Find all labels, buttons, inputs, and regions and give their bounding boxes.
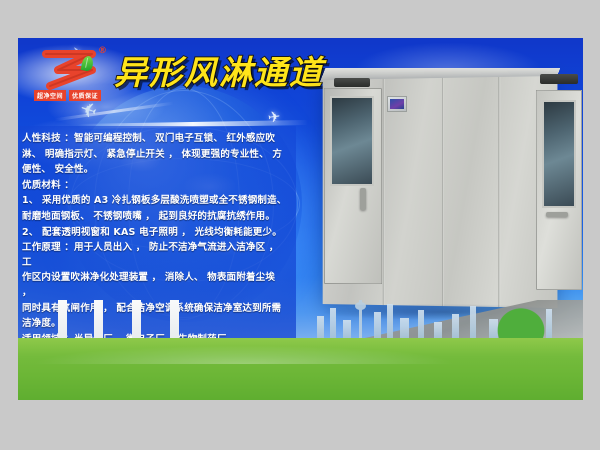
product-banner: ✈ ✈ ✈ ® 超净空间 优质保证 异形风淋通道 人性科技 ：智能可编程控制、 … xyxy=(18,38,583,400)
description-line: 1、 采用优质的 A3 冷扎钢板多层酸洗喷塑或全不锈钢制造、 xyxy=(22,194,288,209)
grass-field xyxy=(18,338,583,400)
door-handle-left xyxy=(360,188,366,210)
description-line: 工作原理 ：用于人员出入 ， 防止不洁净气流进入洁净区 ， 工 xyxy=(22,241,288,270)
airplane-icon: ✈ xyxy=(267,109,282,126)
door-window-right xyxy=(542,100,576,208)
logo-tag-right: 优质保证 xyxy=(69,90,101,101)
door-closer xyxy=(334,78,370,87)
description-line: 优质材料 ： xyxy=(22,179,288,194)
product-photo xyxy=(310,60,583,330)
logo-tag-left: 超净空间 xyxy=(34,90,66,101)
description-line: 人性科技 ：智能可编程控制、 双门电子互锁、 红外感应吹 xyxy=(22,132,288,147)
landscape-footer xyxy=(18,300,583,400)
registered-mark: ® xyxy=(98,46,107,56)
description-line: 耐磨地面钢板、 不锈钢喷嘴 ， 起到良好的抗腐抗绣作用。 xyxy=(22,210,288,225)
ribbon-z-icon xyxy=(40,48,102,90)
description-line: 作区内设置吹淋净化处理装置 ， 消除人、 物表面附着尘埃 ， xyxy=(22,271,288,300)
description-line: 淋、 明确指示灯、 紧急停止开关 ， 体现更强的专业性、 方 xyxy=(22,148,288,163)
description-line: 便性、 安全性。 xyxy=(22,163,288,178)
door-window-left xyxy=(330,96,374,186)
door-closer xyxy=(540,74,578,84)
description-line: 2、 配套透明视窗和 KAS 电子照明 ， 光线均衡耗能更少。 xyxy=(22,226,288,241)
door-handle-right xyxy=(546,212,568,217)
logo-tagline: 超净空间 优质保证 xyxy=(34,90,101,101)
control-panel xyxy=(387,96,407,112)
banner-title: 异形风淋通道 xyxy=(114,46,324,94)
company-logo: ® 超净空间 优质保证 xyxy=(32,44,124,106)
